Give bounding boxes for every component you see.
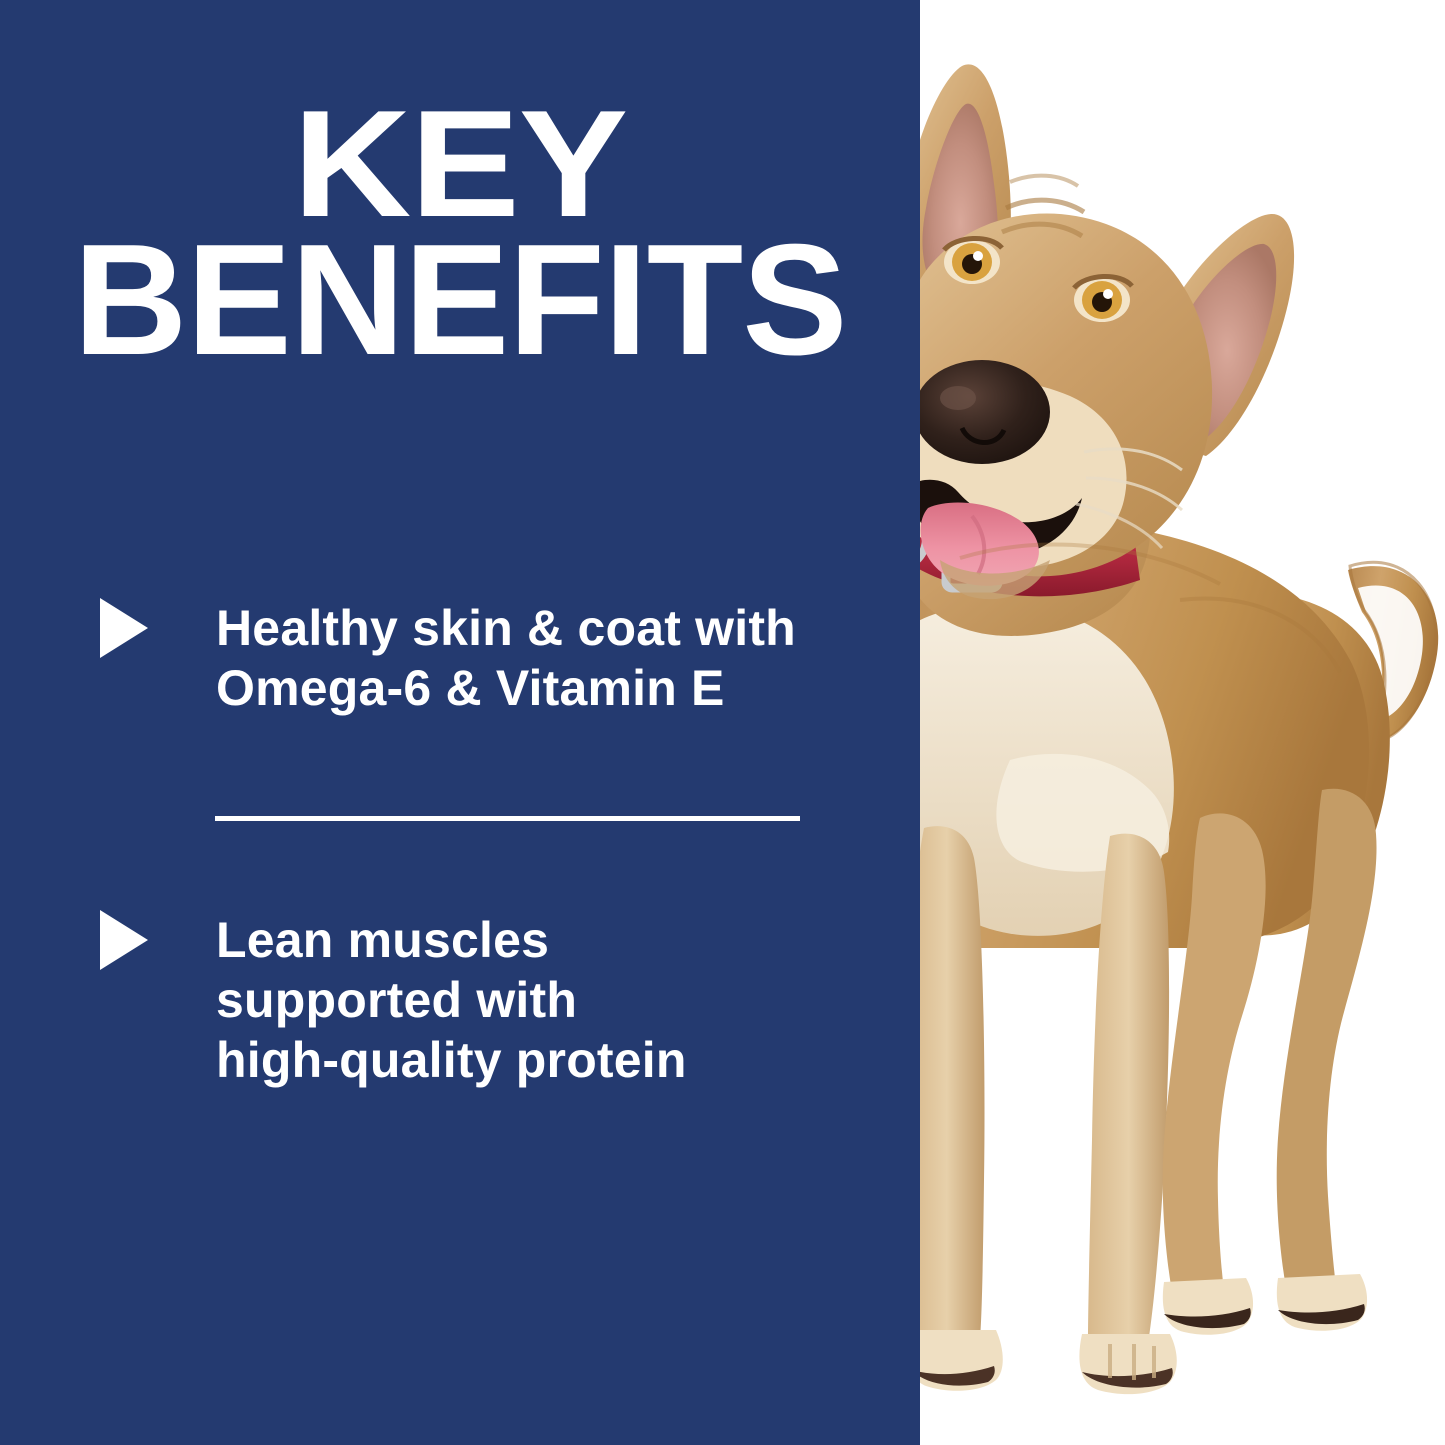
dog-photo <box>920 0 1445 1445</box>
key-benefits-banner: KEY BENEFITS Healthy skin & coat with Om… <box>0 0 1445 1445</box>
benefit-item-0: Healthy skin & coat with Omega-6 & Vitam… <box>100 598 890 718</box>
triangle-bullet-icon <box>100 910 148 970</box>
page-title-line-2: BENEFITS <box>0 232 920 368</box>
page-title: KEY BENEFITS <box>0 96 920 368</box>
benefit-item-1-label: Lean muscles supported with high-quality… <box>216 910 890 1090</box>
triangle-bullet-icon <box>100 598 148 658</box>
benefits-panel: KEY BENEFITS Healthy skin & coat with Om… <box>0 0 920 1445</box>
benefit-item-0-label: Healthy skin & coat with Omega-6 & Vitam… <box>216 598 890 718</box>
benefit-divider <box>215 816 800 821</box>
benefit-item-1: Lean muscles supported with high-quality… <box>100 910 890 1090</box>
